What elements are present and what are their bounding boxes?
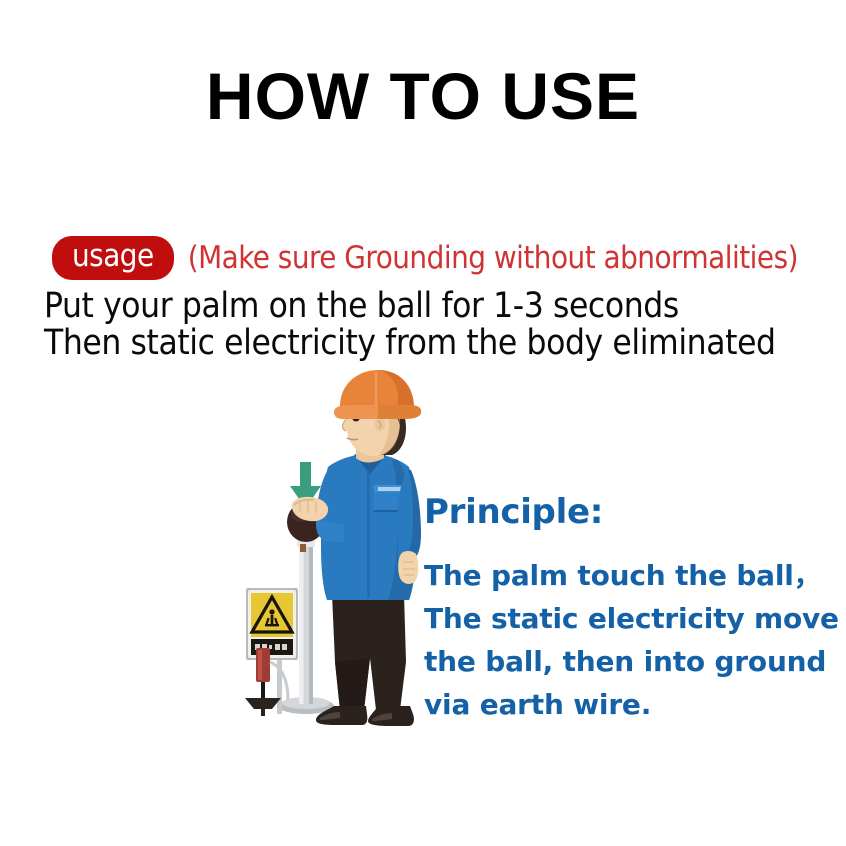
hand-right — [398, 551, 418, 584]
how-to-use-page: HOW TO USE usage (Make sure Grounding wi… — [0, 0, 846, 846]
principle-line-1: The palm touch the ball， — [424, 554, 844, 597]
principle-body: The palm touch the ball， The static elec… — [424, 554, 844, 726]
illustration-worker-grounding — [228, 362, 478, 772]
principle-heading: Principle: — [424, 492, 844, 532]
principle-line-2: The static electricity move to — [424, 597, 844, 640]
principle-line-4: via earth wire. — [424, 683, 844, 726]
hard-hat-icon — [334, 370, 421, 419]
instruction-line-1: Put your palm on the ball for 1-3 second… — [44, 288, 844, 325]
principle-block: Principle: The palm touch the ball， The … — [424, 492, 844, 726]
principle-line-3: the ball, then into ground — [424, 640, 844, 683]
instruction-line-2: Then static electricity from the body el… — [44, 325, 844, 362]
usage-note: (Make sure Grounding without abnormaliti… — [188, 240, 798, 276]
usage-badge: usage — [52, 236, 174, 280]
hazard-warning-sign-icon — [246, 588, 298, 714]
instructions-block: Put your palm on the ball for 1-3 second… — [44, 288, 844, 362]
page-title: HOW TO USE — [0, 62, 846, 131]
usage-row: usage (Make sure Grounding without abnor… — [52, 236, 798, 280]
